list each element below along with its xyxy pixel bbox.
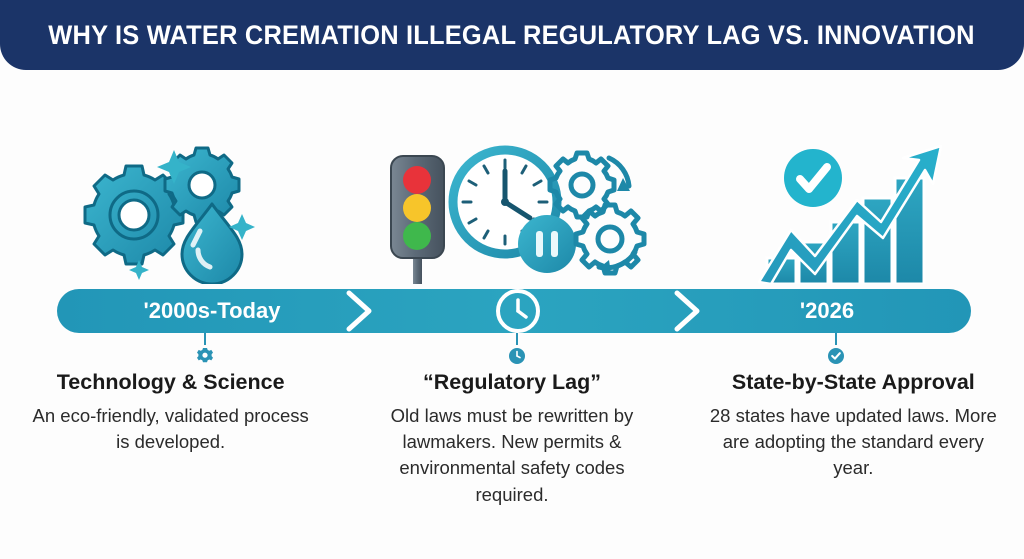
column-heading: “Regulatory Lag” xyxy=(367,370,656,396)
header-banner: WHY IS WATER CREMATION ILLEGAL REGULATOR… xyxy=(0,0,1024,70)
connector-line xyxy=(835,333,837,345)
traffic-light-green xyxy=(403,222,431,250)
timeline-label-1: '2000s-Today xyxy=(97,289,327,333)
traffic-light-icon xyxy=(391,156,444,284)
column-approval: State-by-State Approval 28 states have u… xyxy=(683,370,1024,508)
connector-line xyxy=(204,333,206,345)
illustration-regulatory xyxy=(341,118,682,288)
traffic-light-yellow xyxy=(403,194,431,222)
column-regulatory: “Regulatory Lag” Old laws must be rewrit… xyxy=(341,370,682,508)
timeline-label-3: '2026 xyxy=(707,289,947,333)
column-body: 28 states have updated laws. More are ad… xyxy=(709,403,998,482)
connector-line xyxy=(516,333,518,345)
illustration-technology xyxy=(0,118,341,288)
check-circle-icon xyxy=(784,149,842,207)
column-body: An eco-friendly, validated process is de… xyxy=(26,403,315,456)
page-title: WHY IS WATER CREMATION ILLEGAL REGULATOR… xyxy=(49,20,975,51)
description-row: Technology & Science An eco-friendly, va… xyxy=(0,370,1024,508)
traffic-light-red xyxy=(403,166,431,194)
timeline-bar: '2000s-Today '2026 xyxy=(57,289,971,333)
connector-approval xyxy=(816,333,856,365)
connector-technology xyxy=(185,333,225,365)
column-heading: State-by-State Approval xyxy=(709,370,998,396)
gears-waterdrop-sparkles-icon xyxy=(76,134,266,284)
column-technology: Technology & Science An eco-friendly, va… xyxy=(0,370,341,508)
column-body: Old laws must be rewritten by lawmakers.… xyxy=(367,403,656,508)
illustration-row xyxy=(0,118,1024,288)
gear-icon xyxy=(196,347,214,365)
trafficlight-clock-pause-gears-icon xyxy=(377,134,647,284)
column-heading: Technology & Science xyxy=(26,370,315,396)
check-circle-icon xyxy=(827,347,845,365)
bar-chart-uptrend-arrow-check-icon xyxy=(753,134,953,284)
connector-regulatory xyxy=(497,333,537,365)
gear-icon xyxy=(576,205,644,273)
pause-badge-icon xyxy=(518,215,576,273)
clock-icon xyxy=(508,347,526,365)
illustration-approval xyxy=(683,118,1024,288)
